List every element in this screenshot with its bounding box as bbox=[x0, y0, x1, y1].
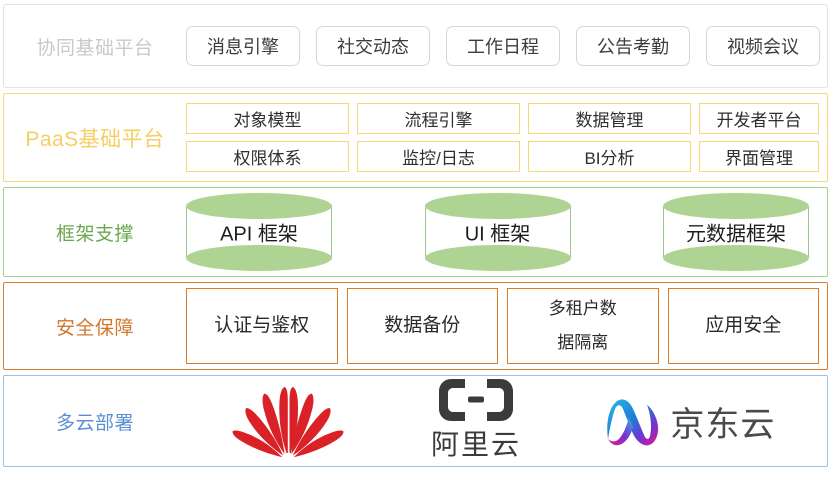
paas-cell-process-engine[interactable]: 流程引擎 bbox=[357, 103, 520, 134]
cylinder-top-ellipse bbox=[663, 193, 809, 219]
layer-framework: 框架支撑 API 框架 UI 框架 bbox=[3, 187, 828, 277]
cloud-provider-aliyun[interactable]: 阿里云 bbox=[431, 376, 521, 466]
cloud-provider-jdcloud[interactable]: 京东云 bbox=[604, 376, 775, 466]
layer-body-collaboration: 消息引擎 社交动态 工作日程 公告考勤 视频会议 bbox=[186, 5, 831, 87]
framework-cylinder-api[interactable]: API 框架 bbox=[186, 193, 332, 271]
paas-cell-data-management[interactable]: 数据管理 bbox=[528, 103, 691, 134]
security-cell-multitenant-isolation-text: 多租户数 据隔离 bbox=[549, 292, 617, 360]
cylinder-top-ellipse bbox=[186, 193, 332, 219]
layer-body-framework: API 框架 UI 框架 元数据框架 bbox=[186, 188, 827, 276]
layer-body-security: 认证与鉴权 数据备份 多租户数 据隔离 应用安全 bbox=[186, 283, 827, 369]
jdcloud-logo bbox=[604, 395, 662, 447]
layer-collaboration: 协同基础平台 消息引擎 社交动态 工作日程 公告考勤 视频会议 bbox=[3, 4, 828, 88]
layer-body-multicloud: 华为云 bbox=[186, 376, 827, 466]
aliyun-logo bbox=[439, 379, 513, 421]
paas-cell-permission-system[interactable]: 权限体系 bbox=[186, 141, 349, 172]
layer-multicloud: 多云部署 华为云 bbox=[3, 375, 828, 467]
paas-grid: 对象模型 权限体系 流程引擎 监控/日志 数据管理 BI分析 开发者平台 界面管… bbox=[186, 103, 827, 172]
paas-column-2: 流程引擎 监控/日志 bbox=[357, 103, 520, 172]
security-cell-row: 认证与鉴权 数据备份 多租户数 据隔离 应用安全 bbox=[186, 283, 827, 369]
collaboration-chip-row: 消息引擎 社交动态 工作日程 公告考勤 视频会议 bbox=[186, 26, 831, 66]
layer-label-framework: 框架支撑 bbox=[4, 219, 186, 246]
framework-cylinder-row: API 框架 UI 框架 元数据框架 bbox=[186, 193, 827, 271]
framework-label-ui: UI 框架 bbox=[425, 218, 571, 247]
collab-chip-message-engine[interactable]: 消息引擎 bbox=[186, 26, 300, 66]
layer-security: 安全保障 认证与鉴权 数据备份 多租户数 据隔离 应用安全 bbox=[3, 282, 828, 370]
paas-column-4: 开发者平台 界面管理 bbox=[699, 103, 819, 172]
cloud-provider-row: 华为云 bbox=[186, 376, 827, 466]
layer-label-multicloud: 多云部署 bbox=[4, 408, 186, 435]
cylinder-bottom-ellipse bbox=[186, 245, 332, 271]
cylinder-bottom-ellipse bbox=[663, 245, 809, 271]
multitenant-line-2: 据隔离 bbox=[557, 333, 608, 352]
paas-cell-bi-analysis[interactable]: BI分析 bbox=[528, 141, 691, 172]
security-cell-authentication[interactable]: 认证与鉴权 bbox=[186, 288, 338, 364]
paas-cell-developer-platform[interactable]: 开发者平台 bbox=[699, 103, 819, 134]
collab-chip-work-schedule[interactable]: 工作日程 bbox=[446, 26, 560, 66]
paas-cell-ui-management[interactable]: 界面管理 bbox=[699, 141, 819, 172]
cylinder-top-ellipse bbox=[425, 193, 571, 219]
security-cell-application-security[interactable]: 应用安全 bbox=[668, 288, 820, 364]
architecture-diagram: 协同基础平台 消息引擎 社交动态 工作日程 公告考勤 视频会议 PaaS基础平台… bbox=[0, 0, 831, 479]
layer-label-security: 安全保障 bbox=[4, 313, 186, 340]
security-cell-multitenant-isolation[interactable]: 多租户数 据隔离 bbox=[507, 288, 659, 364]
jdcloud-wordmark: 京东云 bbox=[670, 397, 775, 446]
paas-column-1: 对象模型 权限体系 bbox=[186, 103, 349, 172]
layer-paas: PaaS基础平台 对象模型 权限体系 流程引擎 监控/日志 数据管理 BI分析 … bbox=[3, 93, 828, 182]
cylinder-bottom-ellipse bbox=[425, 245, 571, 271]
security-cell-data-backup[interactable]: 数据备份 bbox=[347, 288, 499, 364]
framework-cylinder-ui[interactable]: UI 框架 bbox=[425, 193, 571, 271]
framework-cylinder-metadata[interactable]: 元数据框架 bbox=[663, 193, 809, 271]
paas-cell-monitoring-logs[interactable]: 监控/日志 bbox=[357, 141, 520, 172]
layer-label-paas: PaaS基础平台 bbox=[4, 123, 186, 153]
cloud-provider-huawei[interactable]: 华为云 bbox=[228, 376, 348, 466]
framework-label-api: API 框架 bbox=[186, 218, 332, 247]
layer-label-collaboration: 协同基础平台 bbox=[4, 33, 186, 60]
aliyun-wordmark: 阿里云 bbox=[431, 423, 521, 463]
multitenant-line-1: 多租户数 bbox=[549, 299, 617, 318]
paas-cell-object-model[interactable]: 对象模型 bbox=[186, 103, 349, 134]
collab-chip-announcement-attendance[interactable]: 公告考勤 bbox=[576, 26, 690, 66]
collab-chip-social-feed[interactable]: 社交动态 bbox=[316, 26, 430, 66]
collab-chip-video-conference[interactable]: 视频会议 bbox=[706, 26, 820, 66]
paas-column-3: 数据管理 BI分析 bbox=[528, 103, 691, 172]
framework-label-metadata: 元数据框架 bbox=[663, 218, 809, 247]
huawei-logo bbox=[228, 383, 348, 459]
layer-body-paas: 对象模型 权限体系 流程引擎 监控/日志 数据管理 BI分析 开发者平台 界面管… bbox=[186, 94, 827, 181]
